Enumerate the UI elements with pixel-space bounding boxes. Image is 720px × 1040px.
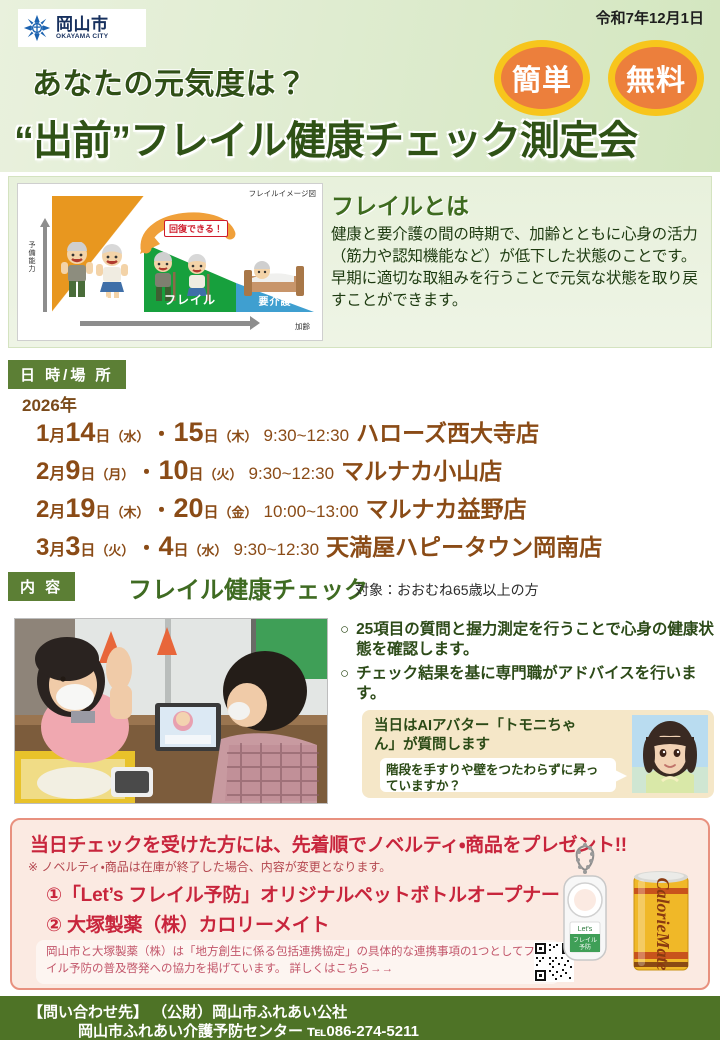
logo-label-en: OKAYAMA CITY	[56, 34, 109, 41]
row-day2-unit: 日	[188, 463, 203, 484]
diagram-x-axis-label: 加齢	[295, 321, 310, 332]
row-day1-unit: 日	[95, 425, 110, 446]
footer-line-2: 岡山市ふれあい介護予防センター ℡086-274-5211	[78, 1020, 419, 1040]
row-month: 2	[36, 458, 49, 486]
partner-note-text: 岡山市と大塚製薬（株）は「地方創生に係る包括連携協定」の具体的な連携事項の1つと…	[36, 940, 560, 979]
row-day1-unit: 日	[80, 463, 95, 484]
logo-label-jp: 岡山市	[56, 16, 109, 33]
row-month-unit: 月	[49, 536, 65, 560]
novelty-note: ※ ノベルティ・商品は在庫が終了した場合、内容が変更となります。	[28, 858, 391, 875]
okayama-city-logo: 岡山市 OKAYAMA CITY	[18, 9, 146, 47]
row-day2-unit: 日	[204, 501, 219, 522]
content-section-band: 内 容	[8, 572, 75, 601]
svg-text:Let's: Let's	[578, 926, 593, 933]
bullet-text: 25項目の質問と握力測定を行うことで心身の健康状態を確認します。	[356, 620, 715, 661]
list-item: ○ 25項目の質問と握力測定を行うことで心身の健康状態を確認します。	[340, 620, 715, 661]
city-emblem-icon	[23, 14, 51, 42]
row-time: 10:00~13:00	[258, 502, 366, 522]
novelty-headline: 当日チェックを受けた方には、先着順でノベルティ・商品をプレゼント!!	[30, 830, 627, 857]
event-photo	[14, 618, 328, 804]
list-item: ○ チェック結果を基に専門職がアドバイスを行います。	[340, 664, 715, 705]
diagram-x-axis-line	[80, 321, 250, 326]
stage-label-care: 要介護	[238, 293, 312, 308]
row-time: 9:30~12:30	[243, 464, 342, 484]
bullet-circle-icon: ○	[340, 620, 349, 661]
content-title: フレイル健康チェック	[128, 570, 368, 605]
row-day1-dow: （水）	[110, 426, 149, 445]
row-day1-dow: （木）	[110, 502, 149, 521]
diagram-x-arrow-icon	[250, 316, 260, 330]
row-day2: 15	[173, 417, 203, 448]
tomoni-avatar-icon	[632, 715, 708, 793]
svg-text:CalorieMate: CalorieMate	[653, 878, 673, 971]
header: 岡山市 OKAYAMA CITY 令和7年12月1日 あなたの元気度は？ “出前…	[0, 0, 720, 172]
row-day1: 9	[65, 455, 80, 486]
row-day2-dow: （金）	[219, 502, 258, 521]
row-venue: マルナカ小山店	[341, 452, 502, 486]
headline-title: “出前”フレイル健康チェック測定会	[14, 108, 637, 166]
partner-note-card: 岡山市と大塚製薬（株）は「地方創生に係る包括連携協定」の具体的な連携事項の1つと…	[36, 940, 560, 984]
row-day2: 10	[158, 455, 188, 486]
stage-label-healthy: 健康	[62, 293, 134, 308]
row-day2-dow: （火）	[204, 464, 243, 483]
table-row: 3 月 3 日 （火） ・ 4 日 （水） 9:30~12:30 天満屋ハピータ…	[36, 528, 720, 562]
row-venue: ハローズ西大寺店	[356, 414, 539, 448]
row-day1-unit: 日	[95, 501, 110, 522]
diagram-y-axis-label: 予備能力	[24, 198, 36, 316]
row-day2-dow: （木）	[219, 426, 258, 445]
row-time: 9:30~12:30	[258, 426, 357, 446]
bullet-circle-icon: ○	[340, 664, 349, 705]
row-separator: ・	[149, 418, 173, 447]
badge-easy: 簡単	[494, 40, 590, 116]
row-separator: ・	[149, 494, 173, 523]
footer-contact: 【問い合わせ先】 （公財）岡山市ふれあい公社 岡山市ふれあい介護予防センター ℡…	[0, 996, 720, 1040]
row-day1: 19	[65, 493, 95, 524]
photo-illustration	[15, 619, 328, 804]
row-day2-unit: 日	[204, 425, 219, 446]
row-day1-dow: （月）	[95, 464, 134, 483]
row-day1: 3	[65, 531, 80, 562]
table-row: 2 月 9 日 （月） ・ 10 日 （火） 9:30~12:30 マルナカ小山…	[36, 452, 720, 486]
recover-label: 回復できる！	[164, 220, 228, 237]
row-venue: 天満屋ハピータウン岡南店	[326, 528, 602, 562]
row-month-unit: 月	[49, 460, 65, 484]
row-month: 3	[36, 534, 49, 562]
row-venue: マルナカ益野店	[366, 490, 527, 524]
row-month-unit: 月	[49, 422, 65, 446]
schedule-list: 1 月 14 日 （水） ・ 15 日 （木） 9:30~12:30 ハローズ西…	[36, 414, 720, 566]
footer-line-1: 【問い合わせ先】 （公財）岡山市ふれあい公社	[28, 1001, 347, 1022]
diagram-y-axis-line	[43, 227, 47, 312]
novelty-item-1: ①「Let’s フレイル予防」オリジナルペットボトルオープナー	[46, 880, 560, 907]
row-separator: ・	[134, 456, 158, 485]
ai-avatar-callout: 当日はAIアバター「トモニちゃん」が質問します 階段を手すりや壁をつたわらずに昇…	[362, 710, 714, 798]
frailty-heading: フレイルとは	[331, 187, 705, 221]
content-target-audience: 対象：おおむね65歳以上の方	[355, 580, 539, 600]
frailty-body-text: 健康と要介護の間の時期で、加齢とともに心身の活力（筋力や認知機能など）が低下した…	[331, 224, 705, 312]
row-day2-dow: （水）	[188, 540, 227, 559]
row-month: 1	[36, 420, 49, 448]
bullet-text: チェック結果を基に専門職がアドバイスを行います。	[356, 664, 715, 705]
diagram-y-arrow-icon	[40, 218, 50, 227]
row-month-unit: 月	[49, 498, 65, 522]
novelty-item-2: ② 大塚製薬（株）カロリーメイト	[46, 910, 329, 937]
badge-free: 無料	[608, 40, 704, 116]
frailty-explanation: フレイルとは 健康と要介護の間の時期で、加齢とともに心身の活力（筋力や認知機能な…	[331, 187, 705, 312]
issue-date: 令和7年12月1日	[596, 7, 704, 28]
logo-text: 岡山市 OKAYAMA CITY	[56, 16, 109, 41]
novelty-section: 当日チェックを受けた方には、先着順でノベルティ・商品をプレゼント!! ※ ノベル…	[10, 818, 710, 990]
row-day2: 20	[173, 493, 203, 524]
content-bullets: ○ 25項目の質問と握力測定を行うことで心身の健康状態を確認します。 ○ チェッ…	[340, 620, 715, 708]
stage-label-frail: フレイル	[150, 291, 230, 308]
table-row: 2 月 19 日 （木） ・ 20 日 （金） 10:00~13:00 マルナカ…	[36, 490, 720, 524]
schedule-section-band: 日 時/場 所	[8, 360, 126, 389]
row-day1: 14	[65, 417, 95, 448]
bottle-opener-novelty-image: Let's フレイル 予防	[554, 842, 616, 972]
figure-healthy-man	[60, 242, 94, 298]
row-month: 2	[36, 496, 49, 524]
row-day1-unit: 日	[80, 539, 95, 560]
schedule-year: 2026年	[22, 391, 77, 416]
avatar-portrait	[632, 715, 708, 793]
headline-subtitle: あなたの元気度は？	[32, 59, 307, 103]
flyer-page: 岡山市 OKAYAMA CITY 令和7年12月1日 あなたの元気度は？ “出前…	[0, 0, 720, 1040]
figure-healthy-woman	[96, 244, 128, 298]
row-day1-dow: （火）	[95, 540, 134, 559]
calorie-mate-can-image: CalorieMate	[628, 866, 694, 974]
row-time: 9:30~12:30	[228, 540, 327, 560]
diagram-plot: 回復できる！	[52, 196, 314, 312]
svg-text:予防: 予防	[579, 943, 591, 951]
frailty-diagram: フレイルイメージ図 予備能力 回復できる！	[17, 183, 323, 341]
row-separator: ・	[134, 532, 158, 561]
row-day2-unit: 日	[173, 539, 188, 560]
row-day2: 4	[158, 531, 173, 562]
table-row: 1 月 14 日 （水） ・ 15 日 （木） 9:30~12:30 ハローズ西…	[36, 414, 720, 448]
frailty-panel: フレイルイメージ図 予備能力 回復できる！	[8, 176, 712, 348]
avatar-speech-bubble: 階段を手すりや壁をつたわらずに昇っていますか？	[380, 758, 616, 792]
avatar-lead-text: 当日はAIアバター「トモニちゃん」が質問します	[374, 717, 594, 755]
svg-text:フレイル: フレイル	[573, 937, 597, 944]
